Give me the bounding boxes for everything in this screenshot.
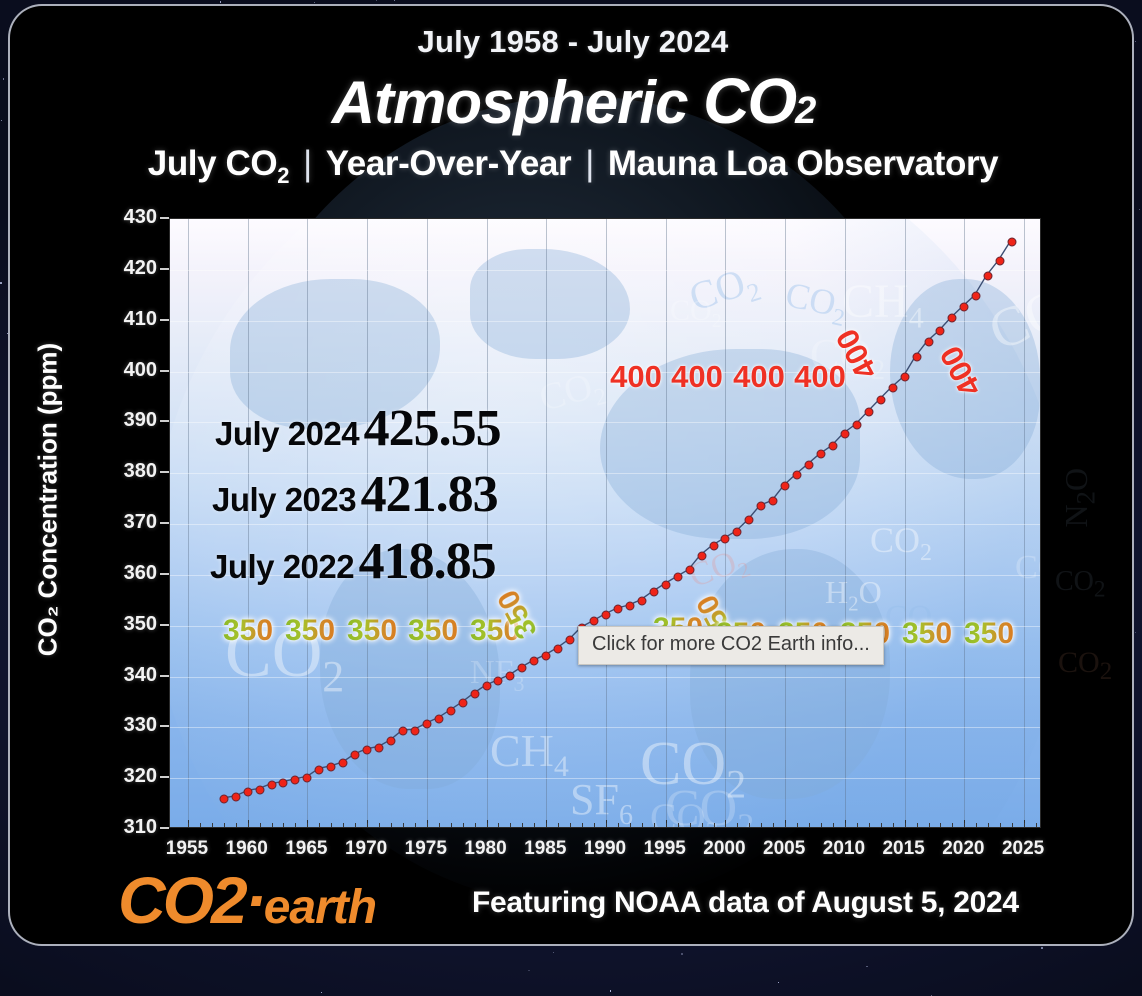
star <box>321 992 322 993</box>
callout-2023: July 2023 421.83 <box>212 465 498 524</box>
data-point[interactable] <box>470 690 479 699</box>
callout-year: July 2022 <box>210 548 354 585</box>
y-axis-tick-label: 400 <box>99 359 157 382</box>
logo-earth-text: earth <box>264 881 376 934</box>
page-title: Atmospheric CO2 <box>10 64 1134 138</box>
star <box>1 120 2 121</box>
star <box>931 995 932 996</box>
y-axis-tick-label: 340 <box>99 664 157 687</box>
star <box>1041 947 1043 949</box>
data-point[interactable] <box>685 566 694 575</box>
annotation-350: 350 <box>285 614 335 648</box>
y-axis-tick-mark <box>160 624 169 626</box>
data-point[interactable] <box>231 793 240 802</box>
data-point[interactable] <box>625 601 634 610</box>
subtitle-july-co2-text: July CO <box>148 144 277 183</box>
callout-year: July 2024 <box>215 415 359 452</box>
data-point[interactable] <box>327 763 336 772</box>
data-point[interactable] <box>781 481 790 490</box>
annotation-350: 350 <box>347 614 397 648</box>
star <box>1135 632 1136 633</box>
star <box>394 0 395 1</box>
data-point[interactable] <box>769 497 778 506</box>
y-axis-tick-mark <box>160 675 169 677</box>
y-axis-tick-label: 310 <box>99 816 157 839</box>
title-co2-text: CO <box>703 65 795 137</box>
y-axis-tick-mark <box>160 827 169 829</box>
data-point[interactable] <box>590 617 599 626</box>
star <box>3 78 4 79</box>
title-co2: CO2 <box>703 65 814 137</box>
y-axis-tick-mark <box>160 573 169 575</box>
data-point[interactable] <box>840 429 849 438</box>
subtitle-separator-1: | <box>289 144 326 183</box>
data-point[interactable] <box>506 671 515 680</box>
y-axis-tick-label: 370 <box>99 511 157 534</box>
y-axis-label-text: CO₂ Concentration (ppm) <box>33 343 63 656</box>
data-point[interactable] <box>482 682 491 691</box>
data-point[interactable] <box>793 470 802 479</box>
data-point[interactable] <box>1008 237 1017 246</box>
data-point[interactable] <box>494 676 503 685</box>
callout-year: July 2023 <box>212 481 356 518</box>
data-point[interactable] <box>852 421 861 430</box>
y-axis-tick-mark <box>160 217 169 219</box>
star <box>866 966 867 967</box>
data-point[interactable] <box>996 256 1005 265</box>
y-axis-tick-mark <box>160 471 169 473</box>
y-axis-tick-label: 360 <box>99 562 157 585</box>
data-point[interactable] <box>243 787 252 796</box>
title-main-text: Atmospheric <box>332 69 703 136</box>
y-axis-tick-label: 420 <box>99 257 157 280</box>
subtitle-line: July CO2|Year-Over-Year|Mauna Loa Observ… <box>10 144 1134 189</box>
star <box>1135 41 1136 42</box>
callout-2022: July 2022 418.85 <box>210 532 496 591</box>
data-point[interactable] <box>398 727 407 736</box>
annotation-400: 400 <box>733 359 785 395</box>
data-point[interactable] <box>637 596 646 605</box>
data-point[interactable] <box>219 795 228 804</box>
data-point[interactable] <box>960 302 969 311</box>
subtitle-july-co2: July CO2 <box>148 144 289 183</box>
annotation-350: 350 <box>902 617 952 651</box>
date-range: July 1958 - July 2024 <box>10 24 1134 60</box>
data-point[interactable] <box>315 765 324 774</box>
plot-area[interactable]: CO2 CO2 CH4 SF6 CO2 NF3 CO2 CO2 CH4 CO2 … <box>169 218 1041 828</box>
y-axis-tick-mark <box>160 319 169 321</box>
star <box>1139 209 1140 210</box>
data-point[interactable] <box>817 450 826 459</box>
data-point[interactable] <box>912 353 921 362</box>
star <box>0 282 2 284</box>
data-point[interactable] <box>924 337 933 346</box>
data-point[interactable] <box>339 759 348 768</box>
data-point[interactable] <box>697 551 706 560</box>
y-axis-tick-mark <box>160 522 169 524</box>
star <box>528 970 529 971</box>
data-point[interactable] <box>757 501 766 510</box>
star <box>553 952 554 953</box>
data-point[interactable] <box>733 527 742 536</box>
annotation-350: 350 <box>964 617 1014 651</box>
title-co2-subscript: 2 <box>795 90 814 132</box>
header: July 1958 - July 2024 Atmospheric CO2 Ju… <box>10 6 1134 189</box>
data-point[interactable] <box>554 644 563 653</box>
data-point[interactable] <box>303 773 312 782</box>
data-point[interactable] <box>410 726 419 735</box>
star <box>610 990 612 992</box>
data-point[interactable] <box>864 408 873 417</box>
co2-earth-logo[interactable]: CO2·earth <box>118 862 376 938</box>
star <box>376 0 377 1</box>
data-point[interactable] <box>972 291 981 300</box>
chart-area[interactable]: CO₂ Concentration (ppm) CO2 CO2 CH4 SF6 … <box>10 202 1134 862</box>
data-point[interactable] <box>542 651 551 660</box>
data-point[interactable] <box>805 460 814 469</box>
annotation-350: 350 <box>223 614 273 648</box>
star <box>681 953 683 955</box>
data-point[interactable] <box>434 714 443 723</box>
data-point[interactable] <box>661 580 670 589</box>
infographic-card[interactable]: N2O CO2 CO2 CO2 July 1958 - July 2024 At… <box>8 4 1134 946</box>
data-point[interactable] <box>709 542 718 551</box>
data-point[interactable] <box>888 383 897 392</box>
data-point[interactable] <box>900 373 909 382</box>
data-point[interactable] <box>613 605 622 614</box>
footer: CO2·earth Featuring NOAA data of August … <box>10 868 1134 944</box>
subtitle-july-co2-subscript: 2 <box>277 163 289 188</box>
data-point[interactable] <box>984 271 993 280</box>
data-point[interactable] <box>673 573 682 582</box>
subtitle-separator-2: | <box>571 144 608 183</box>
data-point[interactable] <box>422 720 431 729</box>
data-point[interactable] <box>745 516 754 525</box>
logo-co2-text: CO2 <box>118 863 245 937</box>
y-axis-tick-label: 410 <box>99 308 157 331</box>
data-point[interactable] <box>458 699 467 708</box>
data-point[interactable] <box>649 588 658 597</box>
y-axis-tick-label: 320 <box>99 765 157 788</box>
star <box>778 982 779 983</box>
data-point[interactable] <box>530 657 539 666</box>
logo-dot: · <box>245 863 264 937</box>
x-axis-tick-label: 2025 <box>983 838 1063 860</box>
annotation-400: 400 <box>794 359 846 395</box>
callout-value: 418.85 <box>359 533 496 590</box>
tooltip[interactable]: Click for more CO2 Earth info... <box>578 626 884 665</box>
y-axis-tick-label: 380 <box>99 460 157 483</box>
data-point[interactable] <box>446 707 455 716</box>
data-point[interactable] <box>279 778 288 787</box>
data-point[interactable] <box>386 736 395 745</box>
data-point[interactable] <box>267 780 276 789</box>
y-axis-tick-label: 350 <box>99 613 157 636</box>
annotation-350: 350 <box>408 614 458 648</box>
callout-value: 421.83 <box>361 466 498 523</box>
y-axis-tick-mark <box>160 420 169 422</box>
y-axis-tick-label: 390 <box>99 409 157 432</box>
y-axis-tick-mark <box>160 370 169 372</box>
data-point[interactable] <box>936 327 945 336</box>
data-point[interactable] <box>363 745 372 754</box>
y-axis-tick-mark <box>160 268 169 270</box>
star <box>314 2 315 3</box>
data-point[interactable] <box>828 442 837 451</box>
y-axis-tick-mark <box>160 725 169 727</box>
data-point[interactable] <box>566 636 575 645</box>
data-point[interactable] <box>375 743 384 752</box>
y-axis-tick-mark <box>160 776 169 778</box>
data-point[interactable] <box>721 534 730 543</box>
subtitle-yoy: Year-Over-Year <box>326 144 571 183</box>
data-point[interactable] <box>876 395 885 404</box>
data-point[interactable] <box>291 776 300 785</box>
annotation-400: 400 <box>671 359 723 395</box>
subtitle-observatory: Mauna Loa Observatory <box>608 144 998 183</box>
data-credit: Featuring NOAA data of August 5, 2024 <box>472 886 1019 920</box>
callout-2024: July 2024 425.55 <box>215 399 501 458</box>
data-point[interactable] <box>255 785 264 794</box>
data-point[interactable] <box>948 314 957 323</box>
tooltip-text: Click for more CO2 Earth info... <box>592 633 870 655</box>
annotation-400: 400 <box>610 359 662 395</box>
star <box>220 1 221 2</box>
data-point[interactable] <box>351 750 360 759</box>
y-axis-tick-label: 430 <box>99 206 157 229</box>
data-point[interactable] <box>518 663 527 672</box>
callout-value: 425.55 <box>364 400 501 457</box>
data-point[interactable] <box>602 610 611 619</box>
y-axis-label: CO₂ Concentration (ppm) <box>33 290 64 710</box>
y-axis-tick-label: 330 <box>99 714 157 737</box>
